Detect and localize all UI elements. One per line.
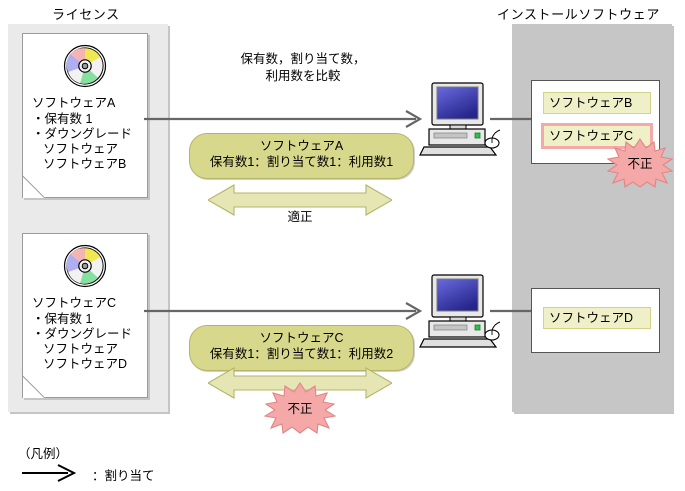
legend-title: （凡例） xyxy=(18,443,68,462)
license-document-body: ソフトウェアC ・保有数 1 ・ダウングレード ソフトウェア ソフトウェアD xyxy=(23,234,147,392)
installed-software-chip[interactable]: ソフトウェアB xyxy=(543,92,651,114)
comparison-pill-line2: 保有数1：割り当て数1：利用数2 xyxy=(190,346,413,363)
comparison-summary-pill: ソフトウェアC 保有数1：割り当て数1：利用数2 xyxy=(189,325,414,371)
license-title: ソフトウェアC xyxy=(32,292,141,311)
invalid-burst-badge: 不正 xyxy=(607,138,673,188)
license-document[interactable]: ソフトウェアA ・保有数 1 ・ダウングレード ソフトウェア ソフトウェアB xyxy=(22,33,148,198)
license-document-body: ソフトウェアA ・保有数 1 ・ダウングレード ソフトウェア ソフトウェアB xyxy=(23,34,147,192)
comparison-pill-line1: ソフトウェアA xyxy=(190,138,413,154)
installed-column-heading: インストールソフトウェア xyxy=(497,4,660,23)
invalid-burst-badge: 不正 xyxy=(264,382,336,434)
license-detail-line: ・ダウングレード xyxy=(32,127,141,142)
desktop-computer-icon xyxy=(418,273,502,349)
comparison-pill-line1: ソフトウェアC xyxy=(190,330,413,346)
compare-caption: 保有数，割り当て数， 利用数を比較 xyxy=(208,51,398,85)
license-detail-line: ・保有数 1 xyxy=(32,312,141,327)
legend-item-label: ：割り当て xyxy=(92,465,155,484)
license-detail-line: ・保有数 1 xyxy=(32,112,141,127)
comparison-summary-pill: ソフトウェアA 保有数1：割り当て数1：利用数1 xyxy=(189,133,414,179)
comparison-verdict-label: 適正 xyxy=(260,206,340,225)
assign-arrow-icon xyxy=(20,463,82,483)
installed-software-chip[interactable]: ソフトウェアD xyxy=(543,307,651,329)
license-detail-line: ソフトウェアD xyxy=(43,357,141,372)
license-detail-line: ソフトウェアB xyxy=(43,157,141,172)
cd-disc-icon xyxy=(63,244,107,288)
assign-arrow-bottom xyxy=(144,300,429,322)
compare-caption-line2: 利用数を比較 xyxy=(208,68,398,85)
license-detail-line: ソフトウェア xyxy=(43,142,141,157)
cd-disc-icon xyxy=(63,44,107,88)
license-detail-line: ソフトウェア xyxy=(43,342,141,357)
comparison-pill-line2: 保有数1：割り当て数1：利用数1 xyxy=(190,154,413,171)
assign-arrow-top xyxy=(144,108,429,130)
svg-text:不正: 不正 xyxy=(627,157,652,171)
diagram-canvas: ライセンス インストールソフトウェア ソフトウェアA xyxy=(0,0,685,491)
license-document[interactable]: ソフトウェアC ・保有数 1 ・ダウングレード ソフトウェア ソフトウェアD xyxy=(22,233,148,398)
installed-software-box: ソフトウェアD xyxy=(531,288,660,353)
license-detail-line: ・ダウングレード xyxy=(32,327,141,342)
svg-text:不正: 不正 xyxy=(287,402,312,416)
license-title: ソフトウェアA xyxy=(32,92,141,111)
desktop-computer-icon xyxy=(418,81,502,157)
license-column-heading: ライセンス xyxy=(52,4,120,23)
compare-caption-line1: 保有数，割り当て数， xyxy=(208,51,398,68)
